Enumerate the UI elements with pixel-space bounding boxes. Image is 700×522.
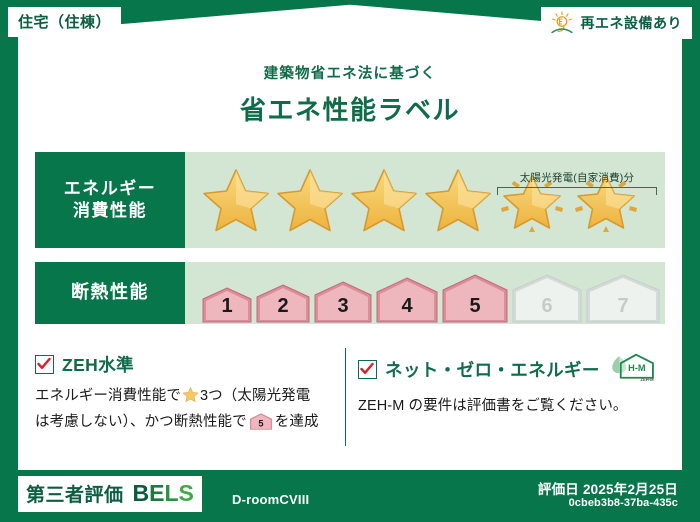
energy-performance-label-box: エネルギー 消費性能 [35, 152, 185, 248]
vertical-divider [345, 348, 346, 446]
building-type-tag: 住宅（住棟） [8, 7, 121, 37]
star-icon-solar [571, 164, 641, 236]
insulation-level-house: 2 [255, 283, 311, 324]
zeh-standard-heading: ZEH水準 [35, 352, 335, 377]
insulation-level-number: 1 [201, 295, 253, 318]
zeh-body-text-3: は考慮しない）、かつ断熱性能で [35, 414, 247, 430]
check-mark-icon [35, 355, 54, 374]
building-type-tag-label: 住宅（住棟） [18, 14, 111, 31]
insulation-rating-panel: 1 2 3 [185, 262, 665, 324]
sun-renewable-icon [549, 11, 575, 35]
bels-logo: BELS [133, 480, 194, 507]
evaluation-date-value: 2025年2月25日 [583, 482, 678, 497]
star-icon-solar [497, 164, 567, 236]
svg-text:H-M: H-M [628, 363, 646, 373]
svg-text:5: 5 [258, 419, 263, 429]
zeh-standard-body: エネルギー消費性能で3つ（太陽光発電は考慮しない）、かつ断熱性能で5を達成 [35, 385, 335, 440]
zeh-standard-title: ZEH水準 [62, 352, 134, 377]
renewable-equipment-label: 再エネ設備あり [581, 13, 683, 33]
net-zero-energy-title: ネット・ゼロ・エネルギー [385, 357, 600, 382]
insulation-level-number: 5 [441, 295, 509, 318]
insulation-level-number: 7 [585, 295, 661, 318]
insulation-level-house: 4 [375, 276, 439, 324]
heading-title: 省エネ性能ラベル [0, 90, 700, 127]
zeh-body-text-4: を達成 [275, 414, 319, 430]
inline-star-icon [182, 386, 199, 411]
net-zero-energy-heading: ネット・ゼロ・エネルギー H-M ZEH-M [358, 352, 658, 387]
insulation-level-scale: 1 2 3 [185, 262, 661, 324]
heading-subtitle: 建築物省エネ法に基づく [0, 62, 700, 83]
net-zero-energy-body: ZEH-M の要件は評価書をご覧ください。 [358, 395, 658, 418]
evaluation-date-label: 評価日 [538, 482, 579, 497]
insulation-performance-label-box: 断熱性能 [35, 262, 185, 324]
check-mark-icon [358, 360, 377, 379]
insulation-label-text: 断熱性能 [71, 281, 149, 305]
third-party-evaluation-label: 第三者評価 [26, 480, 124, 507]
insulation-level-number: 4 [375, 295, 439, 318]
evaluation-id: 0cbeb3b8-37ba-435c [569, 497, 678, 509]
label-footer: 第三者評価 BELS D-roomCVIII 評価日 2025年2月25日 0c… [0, 470, 700, 522]
energy-performance-row: エネルギー 消費性能 [35, 152, 665, 248]
inline-house-badge: 5 [249, 412, 273, 439]
zeh-m-house-logo: H-M ZEH-M [608, 352, 656, 387]
zeh-standard-block: ZEH水準 エネルギー消費性能で3つ（太陽光発電は考慮しない）、かつ断熱性能で5… [35, 352, 335, 440]
energy-performance-label: 住宅（住棟） 再エネ設備あり 建築物省エネ法に基づく 省エ [0, 0, 700, 522]
insulation-level-house-inactive: 7 [585, 273, 661, 324]
room-code: D-roomCVIII [232, 492, 309, 507]
evaluation-date: 評価日 2025年2月25日 [538, 478, 678, 498]
insulation-level-number: 6 [511, 295, 583, 318]
insulation-level-number: 2 [255, 295, 311, 318]
star-icon [349, 164, 419, 236]
energy-rating-panel: 太陽光発電(自家消費)分 [185, 152, 665, 248]
star-rating [185, 164, 665, 236]
zeh-body-text-2: 3つ（太陽光発電 [200, 388, 310, 404]
star-icon [201, 164, 271, 236]
insulation-level-house: 1 [201, 286, 253, 324]
star-icon [423, 164, 493, 236]
insulation-level-house: 3 [313, 280, 373, 324]
label-heading: 建築物省エネ法に基づく 省エネ性能ラベル [0, 62, 700, 127]
bels-certification-plate: 第三者評価 BELS [18, 476, 202, 512]
svg-text:ZEH-M: ZEH-M [640, 377, 654, 382]
insulation-performance-row: 断熱性能 1 2 [35, 262, 665, 324]
zeh-body-text-1: エネルギー消費性能で [35, 388, 181, 404]
energy-label-line1: エネルギー [64, 178, 157, 200]
energy-label-line2: 消費性能 [73, 200, 147, 222]
insulation-level-number: 3 [313, 295, 373, 318]
insulation-level-house-inactive: 6 [511, 273, 583, 324]
star-icon [275, 164, 345, 236]
renewable-equipment-tag: 再エネ設備あり [541, 7, 693, 39]
insulation-level-house: 5 [441, 273, 509, 324]
net-zero-energy-block: ネット・ゼロ・エネルギー H-M ZEH-M ZEH-M の要件は評価書をご覧く… [358, 352, 658, 418]
